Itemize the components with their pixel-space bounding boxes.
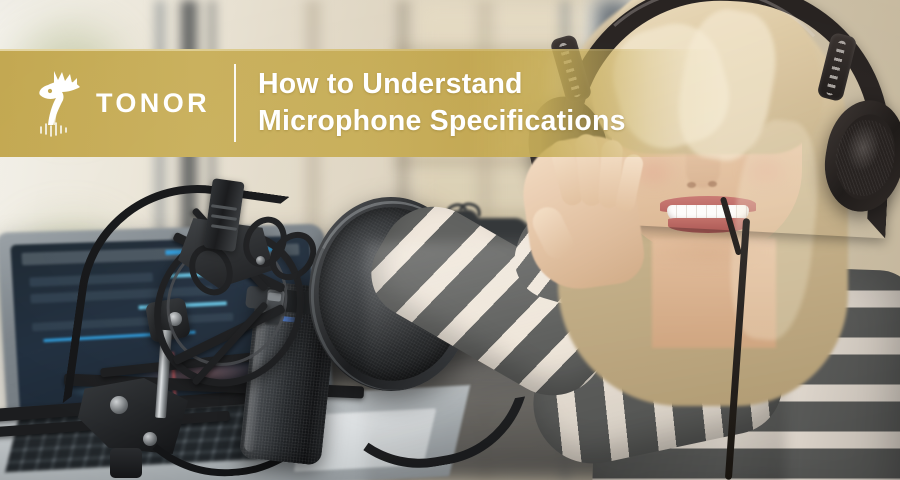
page-title: How to Understand Microphone Specificati…: [258, 66, 626, 140]
whale-logo-icon: [28, 67, 90, 139]
vertical-divider: [234, 64, 236, 142]
banner-image: TONOR How to Understand Microphone Speci…: [0, 0, 900, 480]
banner-content: TONOR How to Understand Microphone Speci…: [0, 49, 900, 157]
clamp-foot: [110, 448, 142, 478]
brand-name: TONOR: [96, 90, 210, 117]
brand-logo[interactable]: TONOR: [28, 67, 210, 139]
shock-mount-bolt: [256, 256, 265, 265]
